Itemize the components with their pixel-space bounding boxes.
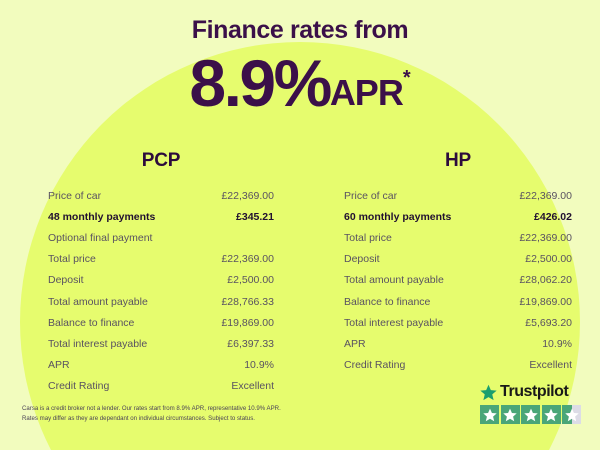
row-label: Deposit xyxy=(48,274,84,286)
star-tile-1 xyxy=(480,405,499,424)
row-label: Price of car xyxy=(48,190,101,202)
plan-rows-hp: Price of car £22,369.00 60 monthly payme… xyxy=(344,185,572,376)
table-row: Balance to finance £19,869.00 xyxy=(344,291,572,312)
rate-suffix: APR xyxy=(330,74,403,114)
row-value: £22,369.00 xyxy=(519,232,572,244)
row-label: Credit Rating xyxy=(48,380,109,392)
rate-asterisk: * xyxy=(403,68,411,114)
row-value: £22,369.00 xyxy=(519,190,572,202)
row-label: Total price xyxy=(344,232,392,244)
row-label: 48 monthly payments xyxy=(48,211,155,223)
row-value: £19,869.00 xyxy=(519,296,572,308)
row-value: Excellent xyxy=(529,359,572,371)
row-value: £28,766.33 xyxy=(221,296,274,308)
plan-columns: PCP Price of car £22,369.00 48 monthly p… xyxy=(0,150,600,397)
row-value: Excellent xyxy=(231,380,274,392)
trustpilot-stars xyxy=(480,405,584,424)
table-row: Credit Rating Excellent xyxy=(48,376,274,397)
headline-rate: 8.9% APR * xyxy=(0,50,600,114)
row-label: 60 monthly payments xyxy=(344,211,451,223)
table-row: Price of car £22,369.00 xyxy=(48,185,274,206)
star-tile-2 xyxy=(501,405,520,424)
trustpilot-star-icon xyxy=(480,384,497,401)
row-value: 10.9% xyxy=(542,338,572,350)
disclaimer-line-1: Carsa is a credit broker not a lender. O… xyxy=(22,404,342,414)
row-label: Total amount payable xyxy=(344,274,444,286)
row-label: Total interest payable xyxy=(344,317,443,329)
row-label: APR xyxy=(48,359,70,371)
row-label: Total amount payable xyxy=(48,296,148,308)
row-label: Total interest payable xyxy=(48,338,147,350)
page-title: Finance rates from xyxy=(0,16,600,45)
row-label: Deposit xyxy=(344,253,380,265)
table-row: Total price £22,369.00 xyxy=(344,227,572,248)
plan-title-pcp: PCP xyxy=(48,150,274,172)
row-value: £2,500.00 xyxy=(227,274,274,286)
row-label: Optional final payment xyxy=(48,232,152,244)
table-row: Total amount payable £28,062.20 xyxy=(344,270,572,291)
row-label: Balance to finance xyxy=(344,296,430,308)
table-row: Total interest payable £6,397.33 xyxy=(48,333,274,354)
plan-rows-pcp: Price of car £22,369.00 48 monthly payme… xyxy=(48,185,274,397)
disclaimer-text: Carsa is a credit broker not a lender. O… xyxy=(22,404,342,424)
banner-content: Finance rates from 8.9% APR * PCP Price … xyxy=(0,0,600,450)
plan-title-hp: HP xyxy=(344,150,572,172)
table-row: Total interest payable £5,693.20 xyxy=(344,312,572,333)
table-row: Total price £22,369.00 xyxy=(48,249,274,270)
row-label: Balance to finance xyxy=(48,317,134,329)
table-row: Deposit £2,500.00 xyxy=(48,270,274,291)
row-label: APR xyxy=(344,338,366,350)
plan-column-pcp: PCP Price of car £22,369.00 48 monthly p… xyxy=(0,150,300,397)
row-value: £22,369.00 xyxy=(221,190,274,202)
rate-value: 8.9% xyxy=(189,53,329,114)
row-label: Total price xyxy=(48,253,96,265)
table-row: Balance to finance £19,869.00 xyxy=(48,312,274,333)
star-tile-4 xyxy=(542,405,561,424)
row-value: £6,397.33 xyxy=(227,338,274,350)
row-value: £22,369.00 xyxy=(221,253,274,265)
table-row: Credit Rating Excellent xyxy=(344,355,572,376)
row-value: 10.9% xyxy=(244,359,274,371)
trustpilot-wordmark: Trustpilot xyxy=(480,382,584,402)
table-row: Deposit £2,500.00 xyxy=(344,249,572,270)
row-value: £5,693.20 xyxy=(525,317,572,329)
row-value: £2,500.00 xyxy=(525,253,572,265)
row-value: £19,869.00 xyxy=(221,317,274,329)
finance-rates-banner: Finance rates from 8.9% APR * PCP Price … xyxy=(0,0,600,450)
row-value: £28,062.20 xyxy=(519,274,572,286)
table-row: Optional final payment xyxy=(48,227,274,248)
table-row: 60 monthly payments £426.02 xyxy=(344,206,572,227)
table-row: APR 10.9% xyxy=(48,355,274,376)
row-label: Credit Rating xyxy=(344,359,405,371)
disclaimer-line-2: Rates may differ as they are dependant o… xyxy=(22,414,342,424)
table-row: 48 monthly payments £345.21 xyxy=(48,206,274,227)
table-row: Price of car £22,369.00 xyxy=(344,185,572,206)
star-tile-5-half xyxy=(562,405,581,424)
trustpilot-rating[interactable]: Trustpilot xyxy=(480,382,584,424)
row-value: £426.02 xyxy=(534,211,572,223)
trustpilot-name: Trustpilot xyxy=(500,384,568,400)
star-tile-3 xyxy=(521,405,540,424)
table-row: APR 10.9% xyxy=(344,333,572,354)
table-row: Total amount payable £28,766.33 xyxy=(48,291,274,312)
row-label: Price of car xyxy=(344,190,397,202)
row-value: £345.21 xyxy=(236,211,274,223)
plan-column-hp: HP Price of car £22,369.00 60 monthly pa… xyxy=(300,150,600,397)
